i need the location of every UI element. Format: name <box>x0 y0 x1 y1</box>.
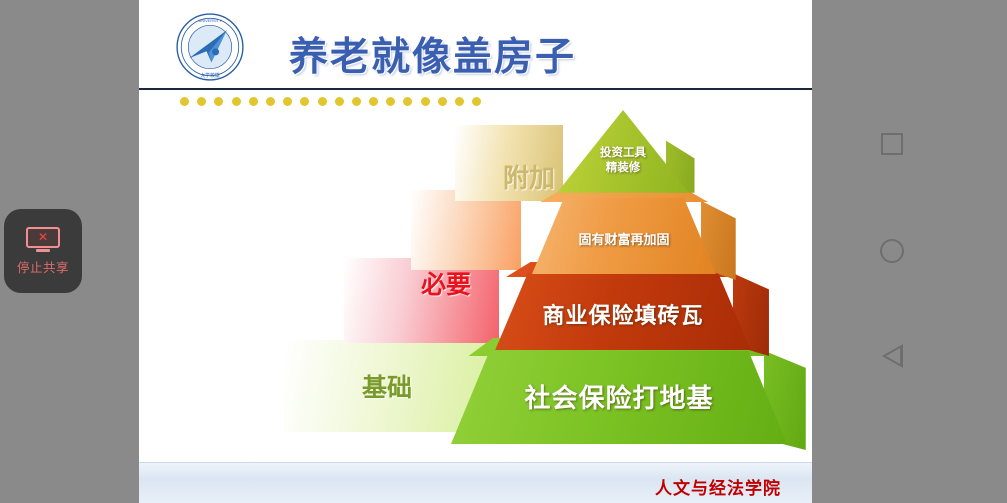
decorative-dot <box>232 97 241 106</box>
square-recents-icon[interactable] <box>869 121 915 167</box>
stop-share-button[interactable]: ✕ 停止共享 <box>4 209 82 293</box>
step-block-necessary-label: 必要 <box>421 265 471 301</box>
decorative-dot <box>352 97 361 106</box>
step-block-foundation-label: 基础 <box>362 368 412 404</box>
svg-text:UNIVERSITY: UNIVERSITY <box>198 19 222 23</box>
decorative-dot <box>455 97 464 106</box>
presentation-slide[interactable]: UNIVERSITY 大学校徽 养老就像盖房子 基础 必要 附加 社会保险打地基 <box>139 0 812 503</box>
decorative-dot <box>369 97 378 106</box>
decorative-dot <box>300 97 309 106</box>
pyramid-tier-apex: 投资工具 精装修 <box>557 110 689 200</box>
android-navigation-bar <box>812 0 1007 503</box>
university-emblem-logo: UNIVERSITY 大学校徽 <box>175 12 245 82</box>
header-divider <box>139 88 812 90</box>
footer-institution-label: 人文与经法学院 <box>655 474 781 499</box>
circle-home-icon[interactable] <box>869 228 915 274</box>
triangle-back-icon[interactable] <box>869 333 915 379</box>
stop-share-label: 停止共享 <box>17 257 69 276</box>
decorative-dot <box>403 97 412 106</box>
decorative-dot <box>180 97 189 106</box>
decorative-dot <box>197 97 206 106</box>
decorative-dot <box>266 97 275 106</box>
pyramid-diagram: 社会保险打地基 商业保险填砖瓦 固有财富再加固 投资工具 精装修 <box>479 110 812 450</box>
slide-header: UNIVERSITY 大学校徽 养老就像盖房子 <box>139 0 812 96</box>
decorative-dot <box>386 97 395 106</box>
decorative-dot <box>214 97 223 106</box>
decorative-dot <box>421 97 430 106</box>
decorative-dot <box>283 97 292 106</box>
decorative-dot <box>249 97 258 106</box>
decorative-dot <box>318 97 327 106</box>
decorative-dot-row <box>180 97 481 106</box>
slide-footer: 人文与经法学院 <box>139 462 812 503</box>
pyramid-tier-commercial: 商业保险填砖瓦 <box>487 262 759 350</box>
page-title: 养老就像盖房子 <box>289 26 576 82</box>
decorative-dot <box>335 97 344 106</box>
pyramid-tier-base: 社会保险打地基 <box>444 338 794 444</box>
decorative-dot <box>472 97 481 106</box>
monitor-stop-share-icon: ✕ <box>26 227 60 252</box>
diagram-stage: 基础 必要 附加 社会保险打地基 商业保险填砖瓦 <box>139 110 812 450</box>
step-block-necessary: 必要 <box>344 258 499 343</box>
decorative-dot <box>438 97 447 106</box>
